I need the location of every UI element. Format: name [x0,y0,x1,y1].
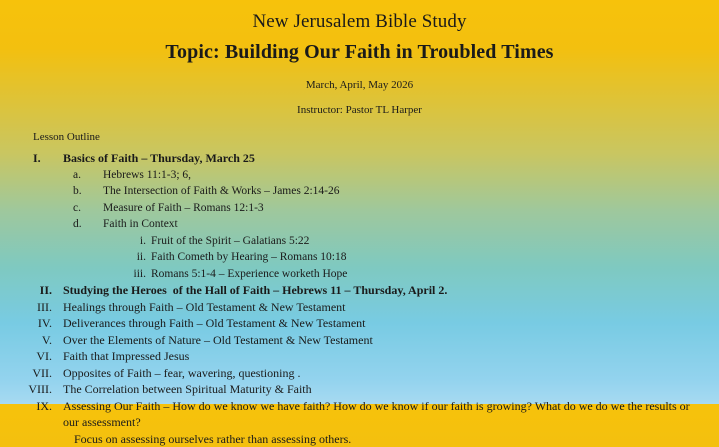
outline-item: ii.Faith Cometh by Hearing – Romans 10:1… [33,249,707,266]
slide-header: New Jerusalem Bible Study Topic: Buildin… [0,0,719,118]
outline-item-marker: V. [27,332,56,349]
outline-item: VIII.The Correlation between Spiritual M… [33,381,707,398]
outline-item: II.Studying the Heroes of the Hall of Fa… [33,282,707,299]
outline-item: I.Basics of Faith – Thursday, March 25 [33,150,707,167]
outline-item: iii.Romans 5:1-4 – Experience worketh Ho… [33,266,707,283]
outline-item-marker: VII. [27,365,56,382]
outline-item-marker: i. [119,233,148,250]
outline-item-text: Fruit of the Spirit – Galatians 5:22 [151,235,309,247]
outline-item-marker: d. [73,216,95,233]
outline-item: V.Over the Elements of Nature – Old Test… [33,332,707,349]
outline-item-marker: IV. [27,315,56,332]
outline-item-marker: I. [33,150,56,167]
outline-item-marker: VI. [27,348,56,365]
outline-item: i.Fruit of the Spirit – Galatians 5:22 [33,233,707,250]
outline-item-text-continued: Focus on assessing ourselves rather than… [63,431,707,447]
outline-item-text: The Intersection of Faith & Works – Jame… [103,185,340,197]
outline-item-text: Studying the Heroes of the Hall of Faith… [63,282,707,299]
outline-item: IX.Assessing Our Faith – How do we know … [33,398,707,447]
outline-item-text: Opposites of Faith – fear, wavering, que… [63,365,707,382]
outline-label: Lesson Outline [33,129,707,145]
study-dates: March, April, May 2026 [0,77,719,93]
outline-item-marker: IX. [27,398,56,415]
outline-item: IV.Deliverances through Faith – Old Test… [33,315,707,332]
outline-item: c.Measure of Faith – Romans 12:1-3 [33,200,707,217]
slide-canvas: New Jerusalem Bible Study Topic: Buildin… [0,0,719,404]
outline-item: d.Faith in Context [33,216,707,233]
outline-item: VII.Opposites of Faith – fear, wavering,… [33,365,707,382]
outline-item: b.The Intersection of Faith & Works – Ja… [33,183,707,200]
outline-item: VI.Faith that Impressed Jesus [33,348,707,365]
outline-item-text: Basics of Faith – Thursday, March 25 [63,150,707,167]
outline-item-text: Romans 5:1-4 – Experience worketh Hope [151,268,347,280]
outline-item-text: Assessing Our Faith – How do we know we … [63,398,707,431]
outline-item-text: Faith Cometh by Hearing – Romans 10:18 [151,251,346,263]
instructor-line: Instructor: Pastor TL Harper [0,102,719,118]
outline-item-marker: II. [27,282,56,299]
topic-title: Topic: Building Our Faith in Troubled Ti… [0,39,719,66]
outline-item-text: Hebrews 11:1-3; 6, [103,169,191,181]
outline-item-marker: b. [73,183,95,200]
outline-item-marker: ii. [119,249,148,266]
outline-item-marker: III. [27,299,56,316]
outline-item-text: Faith in Context [103,218,178,230]
outline-item: III.Healings through Faith – Old Testame… [33,299,707,316]
outline-item-text: Healings through Faith – Old Testament &… [63,299,707,316]
main-title: New Jerusalem Bible Study [0,9,719,34]
outline-list: I.Basics of Faith – Thursday, March 25a.… [33,150,707,447]
outline-item: a.Hebrews 11:1-3; 6, [33,167,707,184]
outline-item-text: Deliverances through Faith – Old Testame… [63,315,707,332]
outline-item-text: Faith that Impressed Jesus [63,348,707,365]
outline-item-text: The Correlation between Spiritual Maturi… [63,381,707,398]
outline-item-marker: c. [73,200,95,217]
outline-item-marker: VIII. [27,381,56,398]
outline-item-marker: iii. [119,266,148,283]
lesson-outline: Lesson Outline I.Basics of Faith – Thurs… [0,129,719,447]
outline-item-marker: a. [73,167,95,184]
outline-item-text: Measure of Faith – Romans 12:1-3 [103,202,264,214]
outline-item-text: Over the Elements of Nature – Old Testam… [63,332,707,349]
